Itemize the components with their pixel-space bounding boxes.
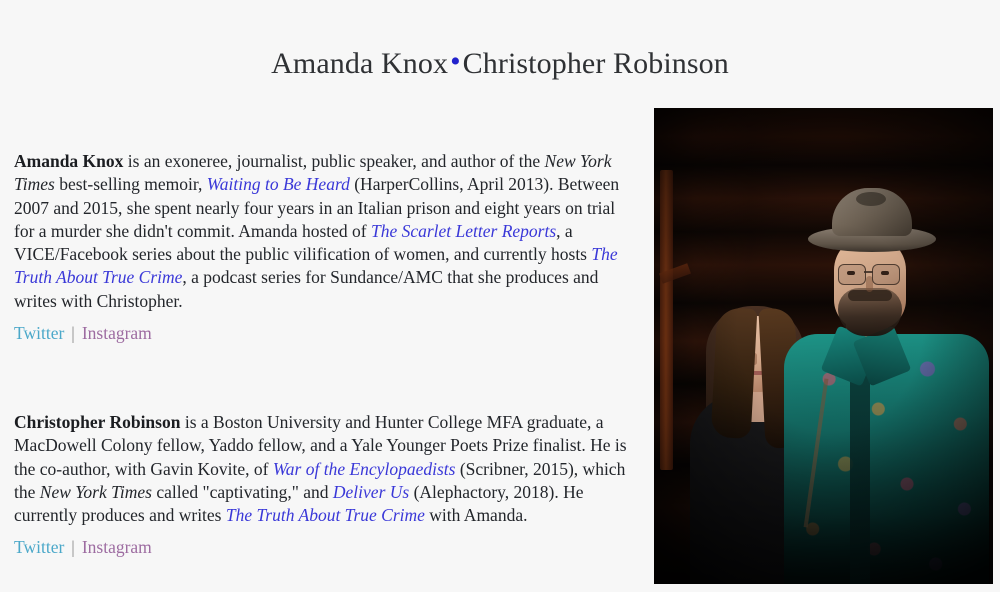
inline-link[interactable]: The Scarlet Letter Reports: [371, 221, 556, 241]
inline-link[interactable]: Deliver Us: [333, 482, 409, 502]
inline-link[interactable]: War of the Encylopaedists: [273, 459, 456, 479]
inline-link[interactable]: Waiting to Be Heard: [207, 174, 350, 194]
page-title-right: Christopher Robinson: [463, 47, 729, 80]
social-divider: |: [64, 323, 82, 343]
bio-person-name: Amanda Knox: [14, 151, 123, 171]
inline-text: called "captivating," and: [152, 482, 333, 502]
figure-christopher: [784, 164, 993, 584]
bio-paragraph: Amanda Knox is an exoneree, journalist, …: [14, 150, 632, 313]
social-links: Twitter|Instagram: [14, 322, 632, 344]
bio-amanda-knox: Amanda Knox is an exoneree, journalist, …: [14, 150, 632, 344]
content-area: Amanda Knox is an exoneree, journalist, …: [0, 100, 1000, 592]
twitter-link[interactable]: Twitter: [14, 537, 64, 557]
inline-link[interactable]: The Truth About True Crime: [226, 505, 425, 525]
inline-text: with Amanda.: [425, 505, 528, 525]
inline-text: is an exoneree, journalist, public speak…: [123, 151, 544, 171]
bio-person-name: Christopher Robinson: [14, 412, 180, 432]
title-separator-bullet: •: [448, 45, 463, 78]
twitter-link[interactable]: Twitter: [14, 323, 64, 343]
glasses-lens-right: [872, 264, 900, 285]
bio-paragraph: Christopher Robinson is a Boston Univers…: [14, 411, 632, 527]
barn-post: [660, 170, 673, 470]
bio-body: is an exoneree, journalist, public speak…: [14, 151, 619, 311]
instagram-link[interactable]: Instagram: [82, 537, 152, 557]
glasses-bridge: [864, 271, 873, 273]
portrait-photo: [654, 108, 993, 584]
bio-christopher-robinson: Christopher Robinson is a Boston Univers…: [14, 411, 632, 558]
photo-background: [654, 108, 993, 584]
social-divider: |: [64, 537, 82, 557]
hair-front-left: [711, 307, 758, 439]
inline-italic: New York Times: [40, 482, 152, 502]
page-title: Amanda Knox•Christopher Robinson: [0, 44, 1000, 84]
page-title-left: Amanda Knox: [271, 47, 448, 80]
glasses-lens-left: [838, 264, 866, 285]
social-links: Twitter|Instagram: [14, 536, 632, 558]
instagram-link[interactable]: Instagram: [82, 323, 152, 343]
page-root: Amanda Knox•Christopher Robinson Amanda …: [0, 0, 1000, 592]
hat-crease: [856, 192, 886, 206]
inline-text: best-selling memoir,: [55, 174, 207, 194]
